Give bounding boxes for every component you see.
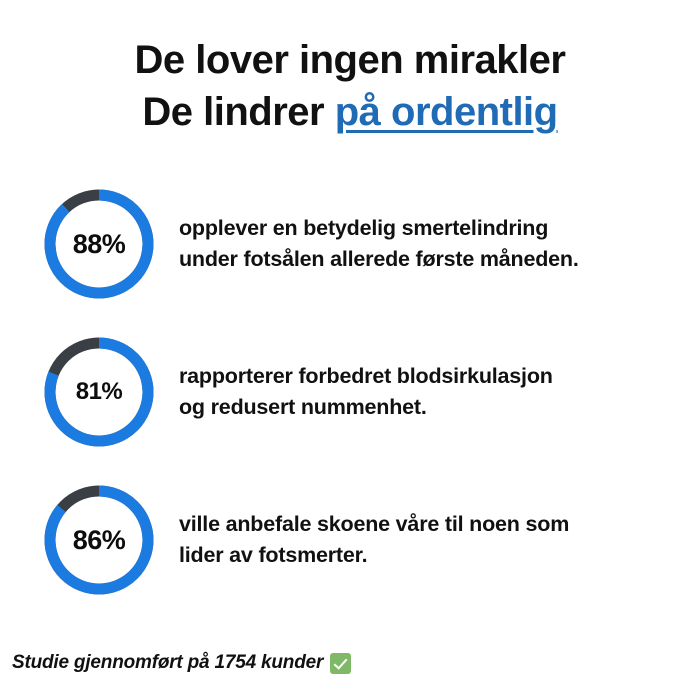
donut-chart-1: 88% (43, 188, 155, 300)
donut-value-1: 88% (43, 188, 155, 300)
stat-text-1-line-2: under fotsålen allerede første måneden. (179, 244, 579, 275)
headline-emphasis-link[interactable]: på ordentlig (335, 90, 558, 134)
donut-chart-2: 81% (43, 336, 155, 448)
stats-list: 88% opplever en betydelig smertelindring… (0, 170, 700, 614)
donut-chart-3: 86% (43, 484, 155, 596)
stat-text-3: ville anbefale skoene våre til noen som … (179, 509, 569, 571)
stat-text-2: rapporterer forbedret blodsirkulasjon og… (179, 361, 553, 423)
stat-text-3-line-2: lider av fotsmerter. (179, 540, 569, 571)
stat-text-2-line-2: og redusert nummenhet. (179, 392, 553, 423)
stat-row: 81% rapporterer forbedret blodsirkulasjo… (0, 318, 700, 466)
stat-text-1-line-1: opplever en betydelig smertelindring (179, 213, 579, 244)
footer-note: Studie gjennomført på 1754 kunder (12, 652, 351, 674)
stat-row: 86% ville anbefale skoene våre til noen … (0, 466, 700, 614)
donut-value-3: 86% (43, 484, 155, 596)
headline-line-1: De lover ingen mirakler (0, 34, 700, 86)
footer-note-text: Studie gjennomført på 1754 kunder (12, 652, 323, 674)
stat-row: 88% opplever en betydelig smertelindring… (0, 170, 700, 318)
headline-line-2-prefix: De lindrer (142, 90, 334, 134)
page-title: De lover ingen mirakler De lindrer på or… (0, 34, 700, 138)
green-check-icon (330, 653, 351, 674)
headline-line-2: De lindrer på ordentlig (0, 86, 700, 138)
stat-text-3-line-1: ville anbefale skoene våre til noen som (179, 509, 569, 540)
stat-text-1: opplever en betydelig smertelindring und… (179, 213, 579, 275)
donut-value-2: 81% (43, 336, 155, 448)
stat-text-2-line-1: rapporterer forbedret blodsirkulasjon (179, 361, 553, 392)
infographic-page: De lover ingen mirakler De lindrer på or… (0, 0, 700, 700)
